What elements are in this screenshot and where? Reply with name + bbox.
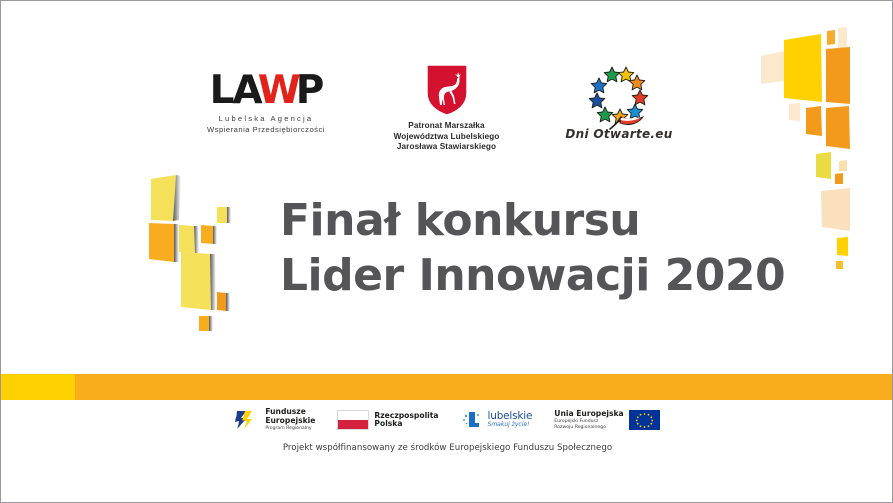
unia-europejska-logo: Unia Europejska Europejski Fundusz Rozwo… [554, 410, 659, 431]
fe-text: Fundusze Europejskie Program Regionalny [265, 408, 315, 431]
left-decor-svg [131, 173, 261, 333]
fe-star-icon [235, 408, 260, 432]
lubelskie-mark-icon [461, 409, 483, 431]
lawp-subtitle-1: Lubelska Agencja [196, 114, 336, 123]
accent-bar [1, 374, 893, 400]
lubelskie-coat-of-arms [374, 63, 519, 118]
patronat-line-1: Patronat Marszałka [374, 121, 519, 132]
fundusze-europejskie-logo: Fundusze Europejskie Program Regionalny [235, 408, 315, 432]
page-title: Finał konkursu Lider Innowacji 2020 [280, 194, 785, 303]
fe-subtitle: Program Regionalny [265, 426, 315, 431]
lubelskie-title: lubelskie [488, 411, 533, 421]
patronat-line-3: Jarosława Stawiarskiego [374, 142, 519, 153]
eu-stars-svg [629, 410, 660, 430]
dni-otwarte-logo: Dni Otwarte.eu [544, 63, 694, 141]
presentation-slide: LAWP Lubelska Agencja Wspierania Przedsi… [0, 0, 893, 503]
flag-white-band [338, 411, 368, 420]
poland-flag-icon [337, 410, 369, 430]
ue-subtitle-2: Rozwoju Regionalnego [554, 425, 623, 430]
ue-subtitle-1: Europejski Fundusz [554, 419, 623, 424]
rp-title-2: Polska [374, 420, 438, 429]
footer-logo-strip: Fundusze Europejskie Program Regionalny … [1, 405, 893, 435]
patronat-text: Patronat Marszałka Województwa Lubelskie… [374, 121, 519, 153]
accent-bar-orange-segment [75, 374, 893, 400]
fe-title-2: Europejskie [265, 417, 315, 426]
lubelskie-text: lubelskie Smakuj życie! [488, 411, 533, 429]
lubelskie-subtitle: Smakuj życie! [488, 422, 533, 429]
patronat-line-2: Województwa Lubelskiego [374, 132, 519, 143]
abstract-yellow-blocks-left [131, 173, 261, 333]
lawp-wordmark: LAWP [196, 71, 336, 111]
accent-bar-yellow-segment [1, 374, 75, 400]
ue-title: Unia Europejska [554, 410, 623, 419]
lawp-p: P [296, 68, 323, 113]
patronat-marszalka-logo: Patronat Marszałka Województwa Lubelskie… [374, 63, 519, 153]
rzeczpospolita-polska-logo: Rzeczpospolita Polska [337, 410, 438, 430]
lubelskie-logo: lubelskie Smakuj życie! [461, 409, 533, 431]
lawp-w: W [258, 68, 299, 113]
title-line-1: Finał konkursu [280, 194, 785, 248]
partner-logos-row: LAWP Lubelska Agencja Wspierania Przedsi… [176, 63, 716, 158]
footer-caption: Projekt współfinansowany ze środków Euro… [1, 443, 893, 453]
lawp-subtitle-2: Wspierania Przedsiębiorczości [196, 125, 336, 134]
lawp-logo: LAWP Lubelska Agencja Wspierania Przedsi… [196, 71, 336, 134]
star-flower-svg [579, 63, 659, 133]
dni-otwarte-flower-icon [544, 63, 694, 131]
title-line-2: Lider Innowacji 2020 [280, 249, 785, 303]
ue-text: Unia Europejska Europejski Fundusz Rozwo… [554, 410, 623, 431]
lawp-la: LA [210, 68, 261, 113]
footer: Fundusze Europejskie Program Regionalny … [1, 405, 893, 453]
coat-of-arms-icon [424, 63, 470, 117]
flag-red-band [338, 420, 368, 429]
eu-flag-icon [629, 410, 660, 430]
dni-otwarte-label: Dni Otwarte.eu [544, 127, 694, 141]
rp-text: Rzeczpospolita Polska [374, 412, 438, 429]
